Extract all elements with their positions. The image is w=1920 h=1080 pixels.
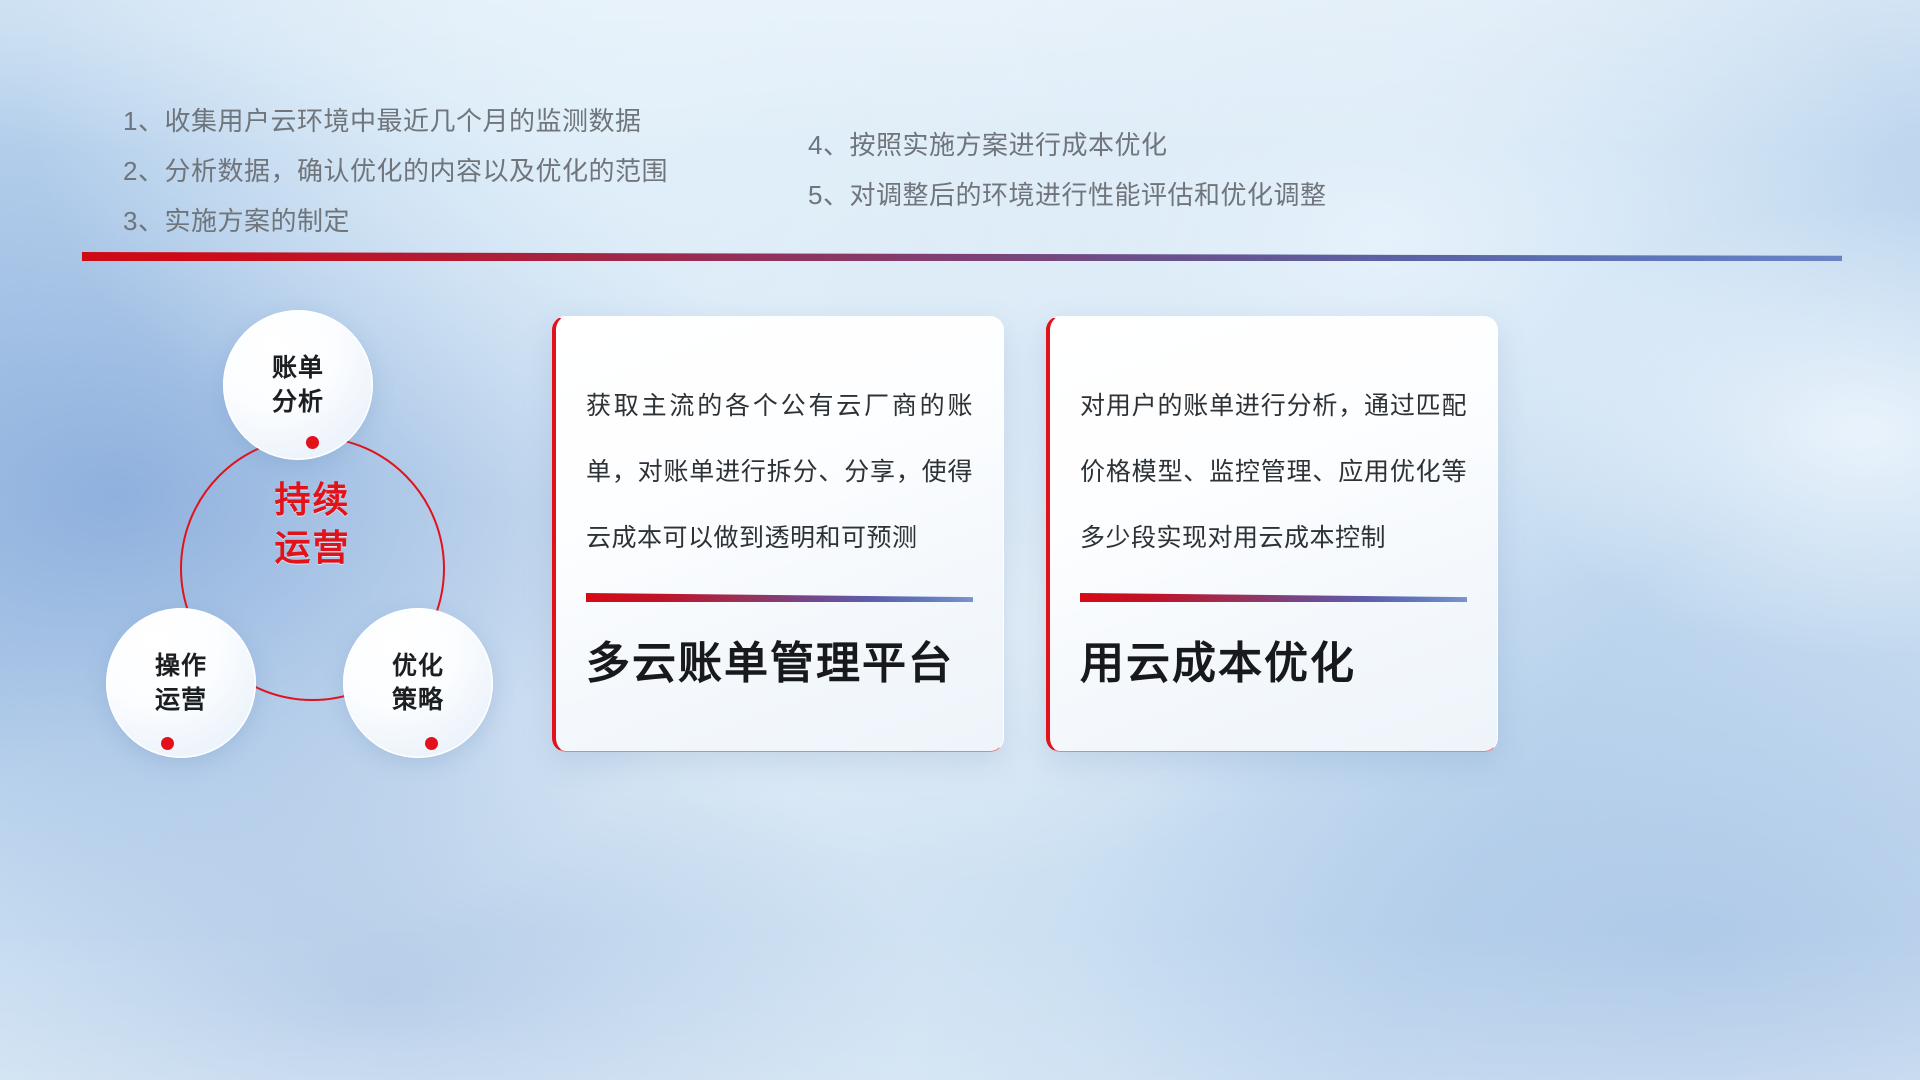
- card-2-divider: [1080, 593, 1467, 602]
- steps-right-column: 4、按照实施方案进行成本优化 5、对调整后的环境进行性能评估和优化调整: [808, 120, 1326, 220]
- venn-node-bill-analysis-line2: 分析: [272, 385, 324, 419]
- venn-node-optimization-policy[interactable]: 优化 策略: [343, 608, 493, 758]
- steps-left-column: 1、收集用户云环境中最近几个月的监测数据 2、分析数据，确认优化的内容以及优化的…: [123, 96, 668, 246]
- card-1-title: 多云账单管理平台: [586, 636, 973, 692]
- venn-node-operation-running-line2: 运营: [155, 683, 207, 717]
- card-cloud-cost-optimization[interactable]: 对用户的账单进行分析，通过匹配价格模型、监控管理、应用优化等多少段实现对用云成本…: [1046, 316, 1498, 752]
- step-item-2: 2、分析数据，确认优化的内容以及优化的范围: [123, 146, 668, 196]
- step-item-4: 4、按照实施方案进行成本优化: [808, 120, 1326, 170]
- section-divider: [82, 252, 1842, 261]
- card-1-divider-bar: [586, 593, 973, 602]
- venn-node-bill-analysis-line1: 账单: [272, 351, 324, 385]
- venn-node-operation-running[interactable]: 操作 运营: [106, 608, 256, 758]
- venn-node-bill-analysis[interactable]: 账单 分析: [223, 310, 373, 460]
- step-item-3: 3、实施方案的制定: [123, 196, 668, 246]
- step-item-1: 1、收集用户云环境中最近几个月的监测数据: [123, 96, 668, 146]
- venn-center-label-line2: 运营: [180, 524, 445, 572]
- venn-center-label: 持续 运营: [180, 476, 445, 572]
- venn-connector-dot-right: [425, 737, 438, 750]
- section-divider-bar: [82, 252, 1842, 261]
- venn-node-operation-running-line1: 操作: [155, 649, 207, 683]
- venn-connector-dot-left: [161, 737, 174, 750]
- venn-node-optimization-policy-line2: 策略: [392, 683, 444, 717]
- card-1-divider: [586, 593, 973, 602]
- venn-node-optimization-policy-line1: 优化: [392, 649, 444, 683]
- card-1-body: 获取主流的各个公有云厂商的账单，对账单进行拆分、分享，使得云成本可以做到透明和可…: [586, 373, 973, 571]
- step-item-5: 5、对调整后的环境进行性能评估和优化调整: [808, 170, 1326, 220]
- venn-center-label-line1: 持续: [180, 476, 445, 524]
- card-2-title: 用云成本优化: [1080, 636, 1467, 692]
- card-multi-cloud-bill-platform[interactable]: 获取主流的各个公有云厂商的账单，对账单进行拆分、分享，使得云成本可以做到透明和可…: [552, 316, 1004, 752]
- card-2-divider-bar: [1080, 593, 1467, 602]
- venn-diagram: 持续 运营 账单 分析 操作 运营 优化 策略: [88, 296, 528, 756]
- venn-connector-dot-top: [306, 436, 319, 449]
- card-2-body: 对用户的账单进行分析，通过匹配价格模型、监控管理、应用优化等多少段实现对用云成本…: [1080, 373, 1467, 571]
